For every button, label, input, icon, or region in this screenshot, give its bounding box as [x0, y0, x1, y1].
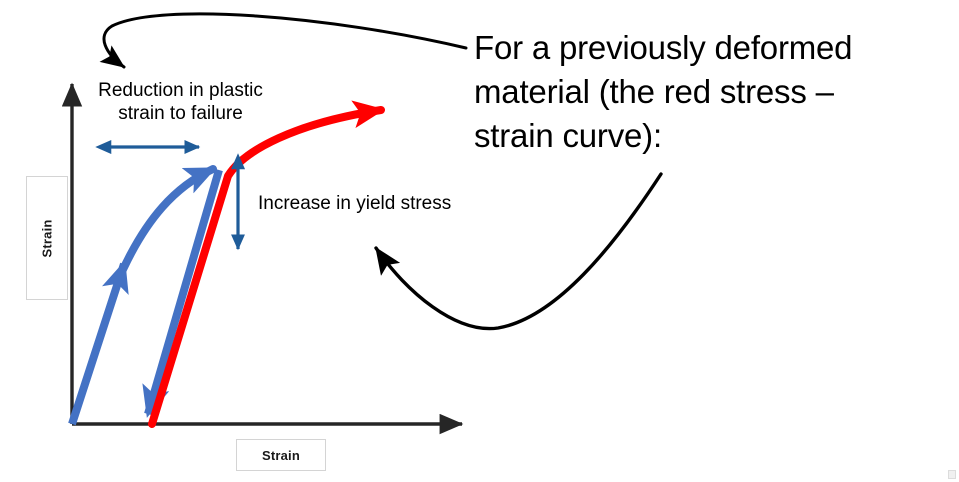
pointer-to-reduction-note-arrow — [104, 14, 466, 67]
red-curve-path — [152, 110, 381, 424]
x-axis-label-text: Strain — [262, 448, 300, 463]
corner-marker — [948, 470, 956, 479]
x-axis-label: Strain — [236, 439, 326, 471]
blue-loading-elastic-leg — [72, 264, 124, 424]
body-text-line-2: material (the red stress – — [474, 70, 944, 114]
series-red-previously-deformed-curve — [152, 110, 381, 424]
body-text-line-3: strain curve): — [474, 114, 944, 158]
y-axis-label: Strain — [26, 176, 68, 300]
body-text-block: For a previously deformed material (the … — [474, 26, 944, 158]
body-text-line-1: For a previously deformed — [474, 26, 944, 70]
slide-canvas: Strain Strain Reduction in plastic strai… — [0, 0, 959, 482]
annotation-reduction-in-plastic-strain: Reduction in plastic strain to failure — [73, 79, 288, 125]
y-axis-label-text: Strain — [39, 219, 54, 257]
annotation-increase-in-yield-stress: Increase in yield stress — [258, 192, 508, 215]
series-original-stress-strain-curve — [72, 169, 219, 424]
